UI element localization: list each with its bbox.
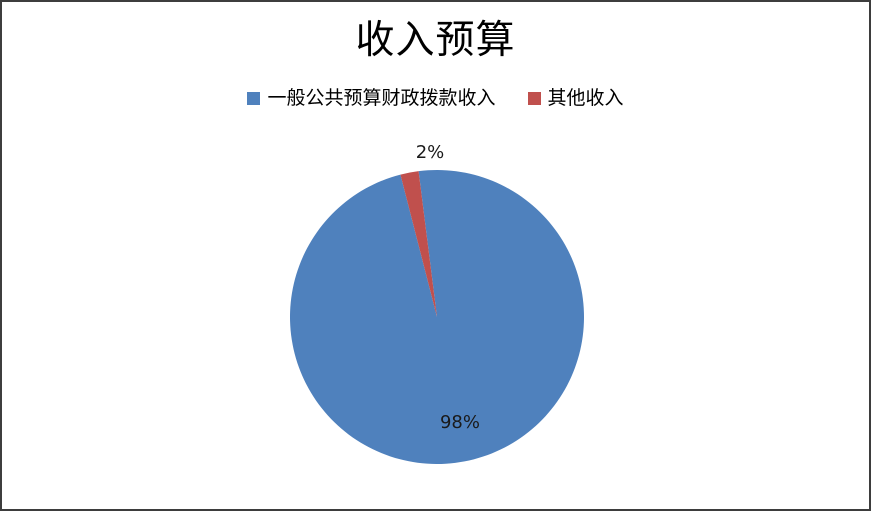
chart-legend: 一般公共预算财政拨款收入 其他收入 — [2, 86, 869, 110]
chart-frame: 收入预算 一般公共预算财政拨款收入 其他收入 2% 98% — [0, 0, 871, 511]
pie-datalabel-general-budget: 98% — [430, 412, 490, 434]
legend-label-general-budget: 一般公共预算财政拨款收入 — [267, 86, 495, 110]
legend-swatch-red-icon — [528, 92, 541, 105]
chart-title: 收入预算 — [2, 16, 869, 66]
legend-entry-other-income[interactable]: 其他收入 — [528, 86, 624, 110]
pie-datalabel-other-income: 2% — [400, 142, 460, 164]
legend-label-other-income: 其他收入 — [548, 86, 624, 110]
legend-entry-general-budget[interactable]: 一般公共预算财政拨款收入 — [247, 86, 495, 110]
legend-swatch-blue-icon — [247, 92, 260, 105]
